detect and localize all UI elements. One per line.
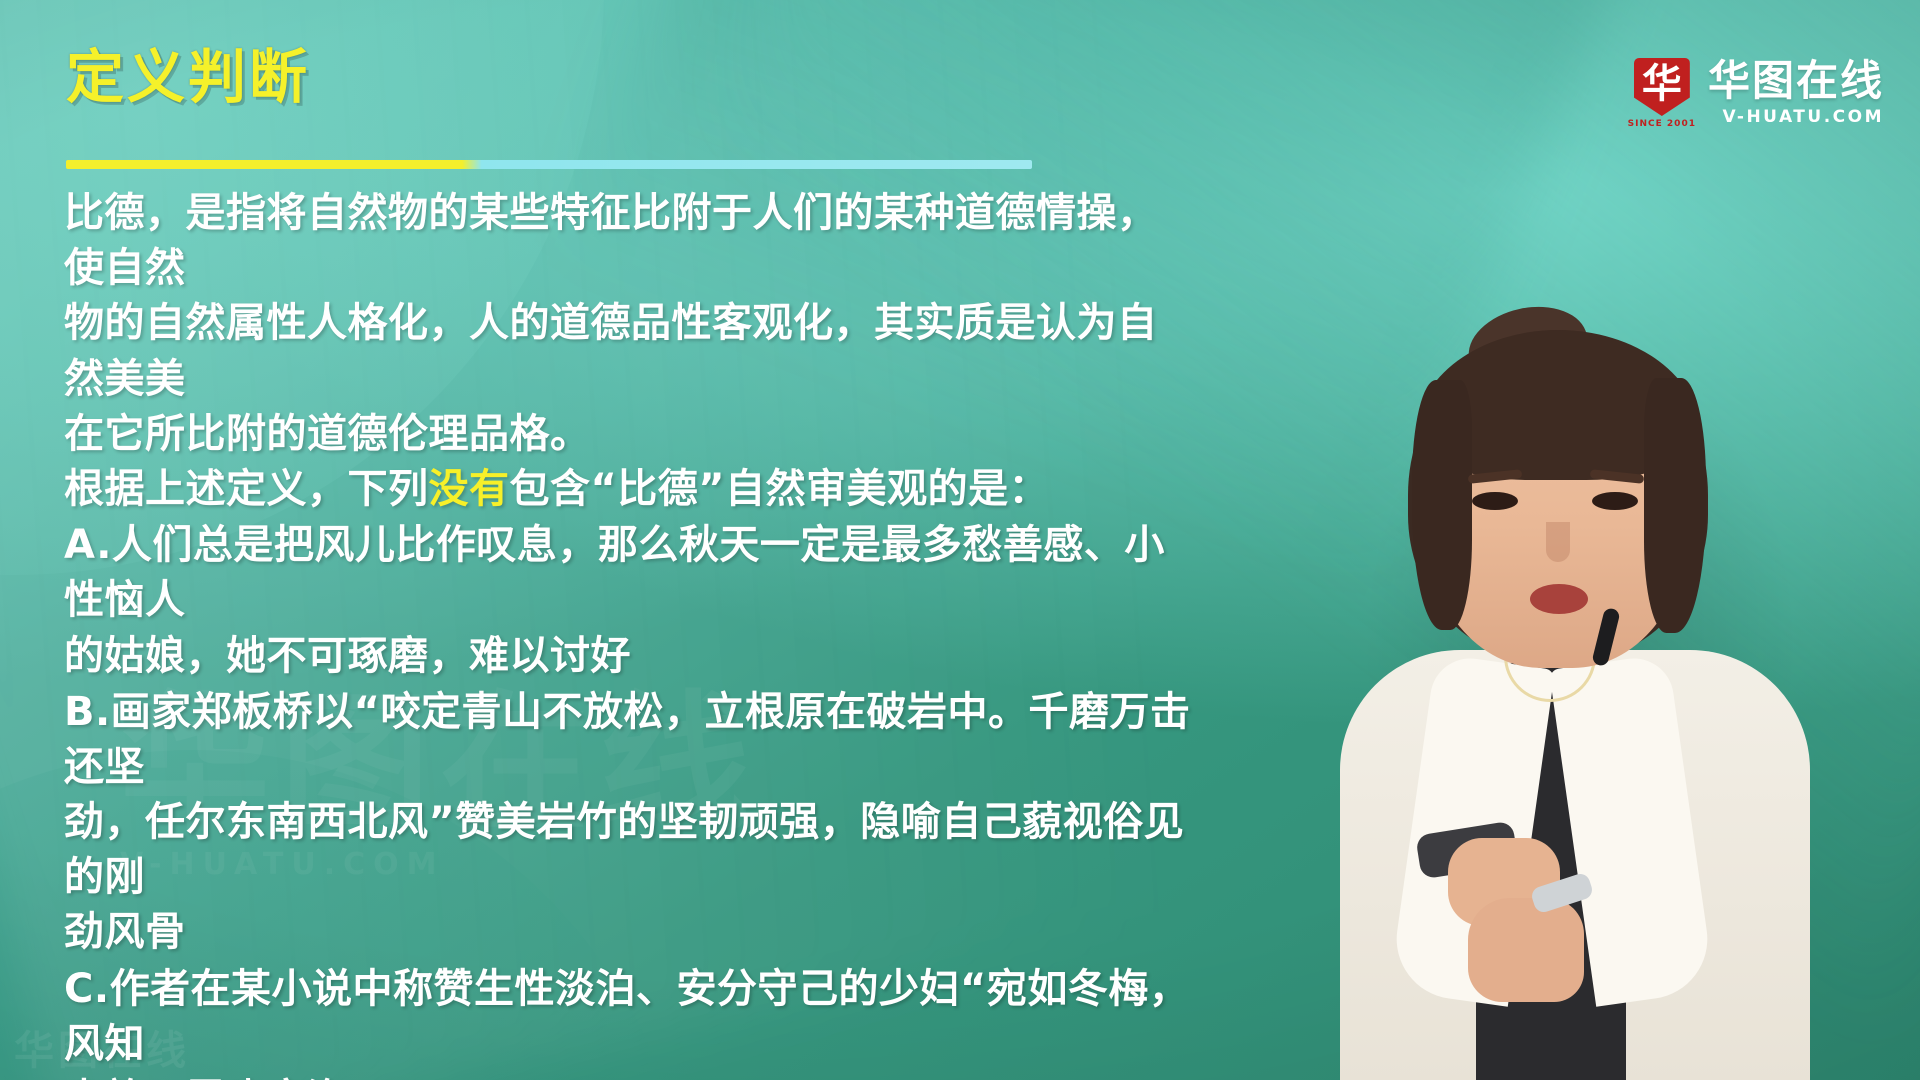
option-a-text-1: 人们总是把风儿比作叹息，那么秋天一定是最多愁善感、小性恼人 — [64, 522, 1165, 623]
option-b-line-3[interactable]: 劲风骨 — [64, 905, 1194, 960]
option-b-label: B. — [64, 689, 111, 735]
brand-name-group: 华图在线 V-HUATU.COM — [1708, 58, 1884, 127]
prompt-highlight: 没有 — [429, 466, 510, 512]
stem-line-3: 在它所比附的道德伦理品格。 — [64, 407, 1194, 462]
brand-name-en: V-HUATU.COM — [1708, 107, 1884, 127]
prompt-before: 根据上述定义，下列 — [64, 466, 429, 512]
option-c-line-1[interactable]: C.作者在某小说中称赞生性淡泊、安分守己的少妇“宛如冬梅，风知 — [64, 962, 1194, 1072]
prompt-after: 包含“比德”自然审美观的是： — [510, 466, 1050, 512]
option-a-line-2[interactable]: 的姑娘，她不可琢磨，难以讨好 — [64, 629, 1194, 684]
brand-shield-group: 华 SINCE 2001 — [1628, 58, 1696, 129]
brand-since-label: SINCE 2001 — [1628, 119, 1696, 129]
option-b-line-2[interactable]: 劲，任尔东南西北风”赞美岩竹的坚韧顽强，隐喻自己藐视俗见的刚 — [64, 795, 1194, 905]
page-title: 定义判断 — [66, 48, 310, 106]
question-body: 比德，是指将自然物的某些特征比附于人们的某种道德情操，使自然 物的自然属性人格化… — [64, 186, 1194, 1080]
title-underline-divider — [66, 160, 1032, 169]
shield-icon: 华 — [1634, 58, 1690, 116]
option-c-text-1: 作者在某小说中称赞生性淡泊、安分守己的少妇“宛如冬梅，风知 — [64, 966, 1189, 1067]
option-a-label: A. — [64, 522, 112, 568]
option-a-line-1[interactable]: A.人们总是把风儿比作叹息，那么秋天一定是最多愁善感、小性恼人 — [64, 518, 1194, 628]
brand-name-cn: 华图在线 — [1708, 60, 1884, 102]
option-c-line-2[interactable]: 素韵，霜晓寒姿” — [64, 1072, 1194, 1080]
option-b-text-1: 画家郑板桥以“咬定青山不放松，立根原在破岩中。千磨万击还坚 — [64, 689, 1190, 790]
lecture-slide-screen: 华图在线 V-HUATU.COM 华图在线 定义判断 华 — [0, 0, 1920, 1080]
brand-logo: 华 SINCE 2001 华图在线 V-HUATU.COM — [1628, 58, 1884, 129]
question-prompt: 根据上述定义，下列没有包含“比德”自然审美观的是： — [64, 462, 1194, 517]
shield-glyph: 华 — [1642, 64, 1682, 104]
stem-line-1: 比德，是指将自然物的某些特征比附于人们的某种道德情操，使自然 — [64, 186, 1194, 296]
stem-line-2: 物的自然属性人格化，人的道德品性客观化，其实质是认为自然美美 — [64, 296, 1194, 406]
option-b-line-1[interactable]: B.画家郑板桥以“咬定青山不放松，立根原在破岩中。千磨万击还坚 — [64, 685, 1194, 795]
option-c-label: C. — [64, 966, 110, 1012]
